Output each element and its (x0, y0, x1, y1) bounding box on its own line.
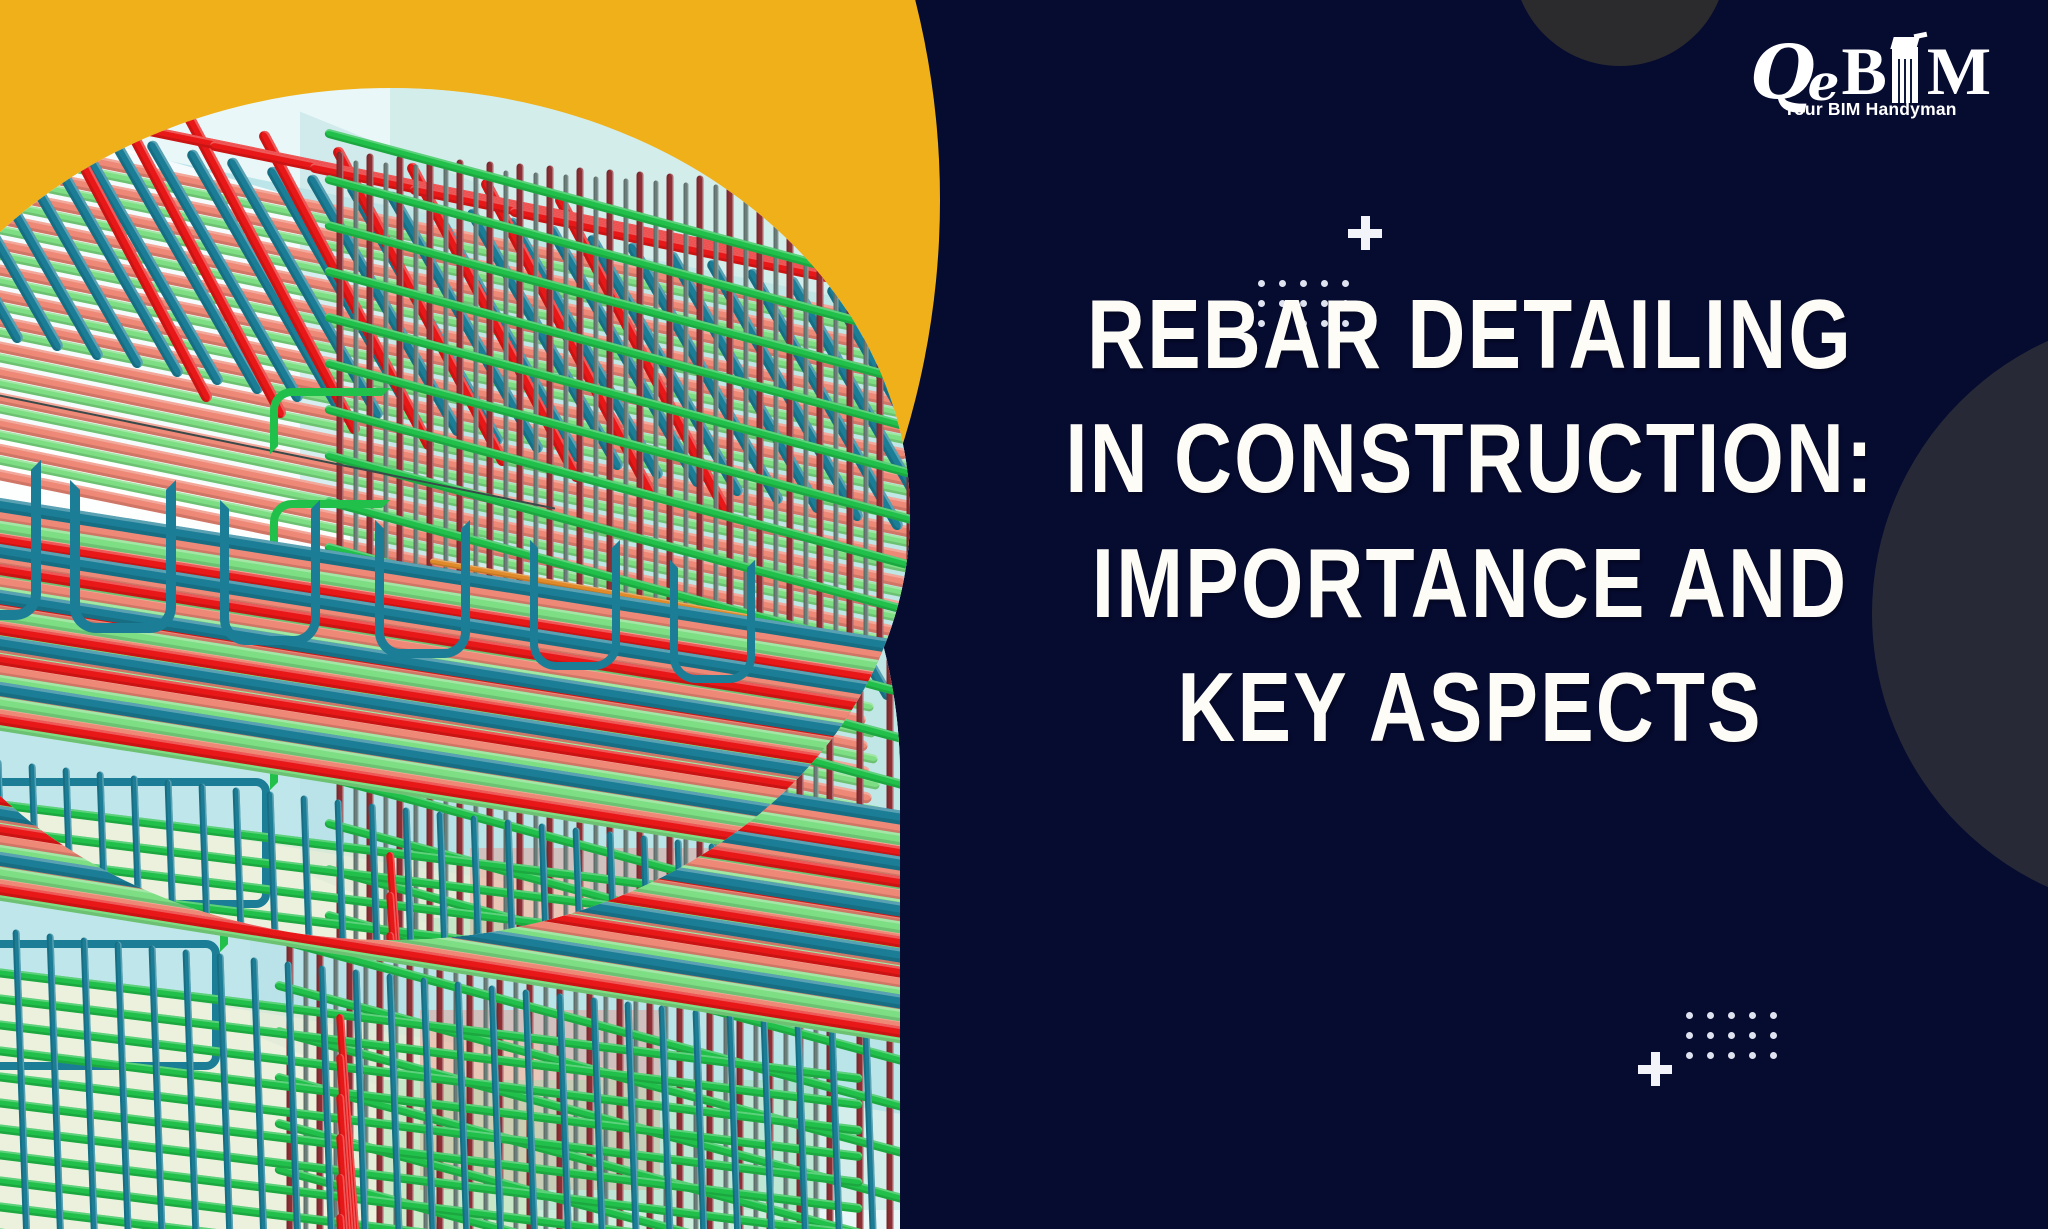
rebar-illustration (0, 88, 910, 940)
plus-decoration-bottom (1638, 1052, 1672, 1086)
logo-letter-q: Q (1750, 40, 1811, 107)
beam-stirrup (220, 500, 320, 645)
title-line-4: KEY ASPECTS (1035, 645, 1904, 769)
dot-grid-decoration-bottom (1686, 1012, 1777, 1059)
title-line-3: IMPORTANCE AND (1035, 521, 1904, 645)
beam-stirrup (0, 460, 41, 620)
page-title: REBAR DETAILING IN CONSTRUCTION: IMPORTA… (940, 272, 2000, 770)
beam-stirrup (530, 540, 620, 670)
banner-root: Q e B M Your BIM Handyman (0, 0, 2048, 1229)
logo-letter-m: M (1927, 41, 1990, 102)
beam-stirrup (70, 480, 176, 633)
beam-stirrup (670, 560, 755, 683)
content-column: Q e B M Your BIM Handyman (940, 0, 2048, 1229)
wall-green-hook (270, 388, 390, 454)
building-tower-icon (1886, 37, 1926, 103)
logo-letter-e: e (1808, 60, 1840, 105)
title-line-2: IN CONSTRUCTION: (1035, 396, 1904, 520)
plus-decoration-top (1348, 216, 1382, 250)
logo-wordmark: Q e B M (1750, 36, 1990, 103)
title-line-1: REBAR DETAILING (1035, 272, 1904, 396)
brand-logo[interactable]: Q e B M Your BIM Handyman (1750, 36, 1990, 120)
beam-stirrup (375, 520, 470, 658)
logo-letter-b: B (1841, 41, 1885, 102)
